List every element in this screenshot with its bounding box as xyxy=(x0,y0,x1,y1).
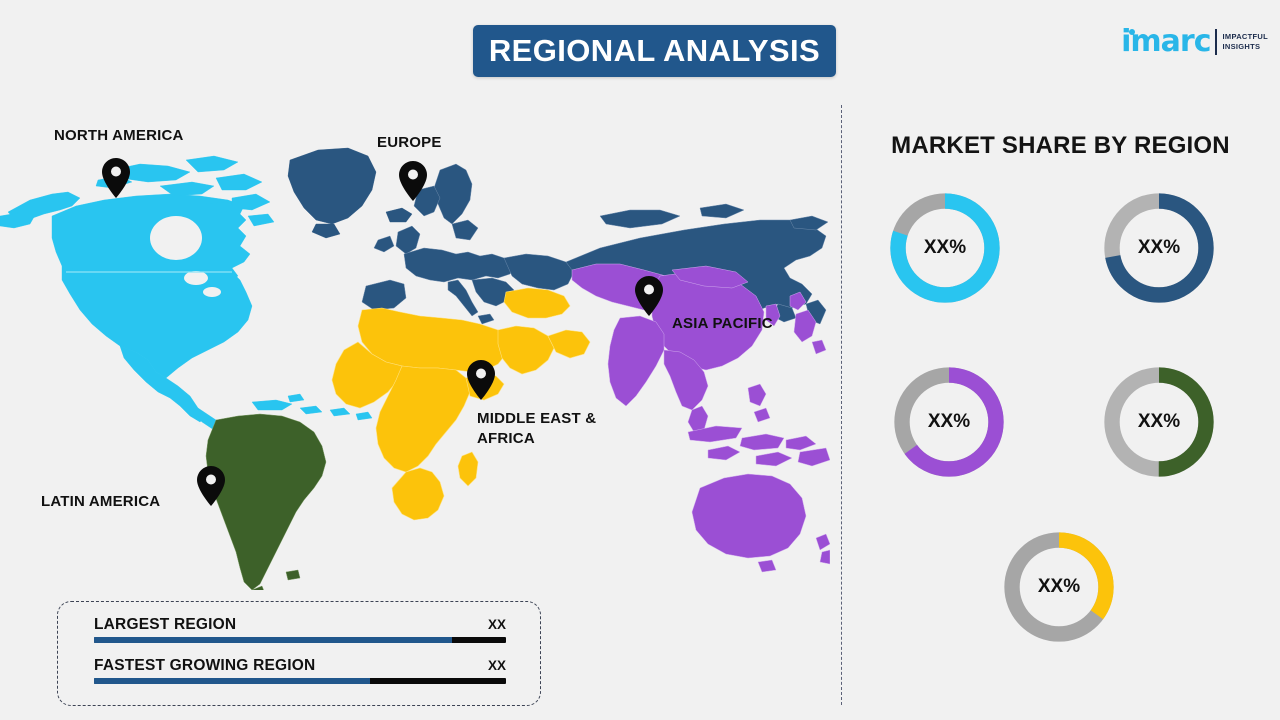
donut-chart-middle-east-africa: XX% xyxy=(997,525,1121,649)
map-region-middle-east-africa xyxy=(332,288,590,520)
map-pin-europe[interactable] xyxy=(398,160,428,202)
legend-label-fastest-growing-region: FASTEST GROWING REGION xyxy=(94,657,315,675)
legend-bar-fill-fastest-growing-region xyxy=(94,678,370,684)
legend-row-largest-region: LARGEST REGION XX xyxy=(94,616,506,643)
region-highlights-box: LARGEST REGION XX FASTEST GROWING REGION… xyxy=(57,601,541,706)
legend-value-fastest-growing-region: XX xyxy=(488,658,506,673)
legend-row-fastest-growing-region: FASTEST GROWING REGION XX xyxy=(94,657,506,684)
legend-bar-fill-largest-region xyxy=(94,637,452,643)
donut-chart-asia-pacific: XX% xyxy=(887,360,1011,484)
donut-value-asia-pacific: XX% xyxy=(887,360,1011,484)
page-title: REGIONAL ANALYSIS xyxy=(489,33,820,69)
map-label-asia-pacific: ASIA PACIFIC xyxy=(672,314,773,334)
donut-value-middle-east-africa: XX% xyxy=(997,525,1121,649)
logo-wordmark: imarc xyxy=(1121,24,1210,59)
page-title-banner: REGIONAL ANALYSIS xyxy=(473,25,836,77)
logo-tagline-line1: IMPACTFUL xyxy=(1223,32,1268,42)
regional-analysis-infographic: REGIONAL ANALYSIS imarc IMPACTFUL INSIGH… xyxy=(0,0,1280,720)
map-pin-middle-east-africa[interactable] xyxy=(466,359,496,401)
donut-value-europe: XX% xyxy=(1097,186,1221,310)
legend-bar-largest-region xyxy=(94,637,506,643)
market-share-donut-group: XX% XX% XX% XX% XX% xyxy=(845,175,1280,675)
donut-chart-latin-america: XX% xyxy=(1097,360,1221,484)
map-pin-north-america[interactable] xyxy=(101,157,131,199)
map-pin-asia-pacific[interactable] xyxy=(634,275,664,317)
legend-value-largest-region: XX xyxy=(488,617,506,632)
legend-bar-fastest-growing-region xyxy=(94,678,506,684)
map-label-europe: EUROPE xyxy=(377,133,442,153)
logo-divider xyxy=(1215,29,1217,55)
panel-divider xyxy=(841,105,842,705)
donut-chart-north-america: XX% xyxy=(883,186,1007,310)
donut-value-latin-america: XX% xyxy=(1097,360,1221,484)
donut-chart-europe: XX% xyxy=(1097,186,1221,310)
market-share-panel-title: MARKET SHARE BY REGION xyxy=(841,132,1280,160)
map-label-latin-america: LATIN AMERICA xyxy=(41,492,160,512)
logo-tagline: IMPACTFUL INSIGHTS xyxy=(1223,32,1268,52)
donut-value-north-america: XX% xyxy=(883,186,1007,310)
logo-tagline-line2: INSIGHTS xyxy=(1223,42,1268,52)
imarc-logo: imarc IMPACTFUL INSIGHTS xyxy=(1121,22,1268,62)
map-label-north-america: NORTH AMERICA xyxy=(54,126,184,146)
legend-label-largest-region: LARGEST REGION xyxy=(94,616,236,634)
map-pin-latin-america[interactable] xyxy=(196,465,226,507)
map-label-middle-east-africa: MIDDLE EAST & AFRICA xyxy=(477,409,596,450)
map-region-greenland xyxy=(288,148,412,238)
